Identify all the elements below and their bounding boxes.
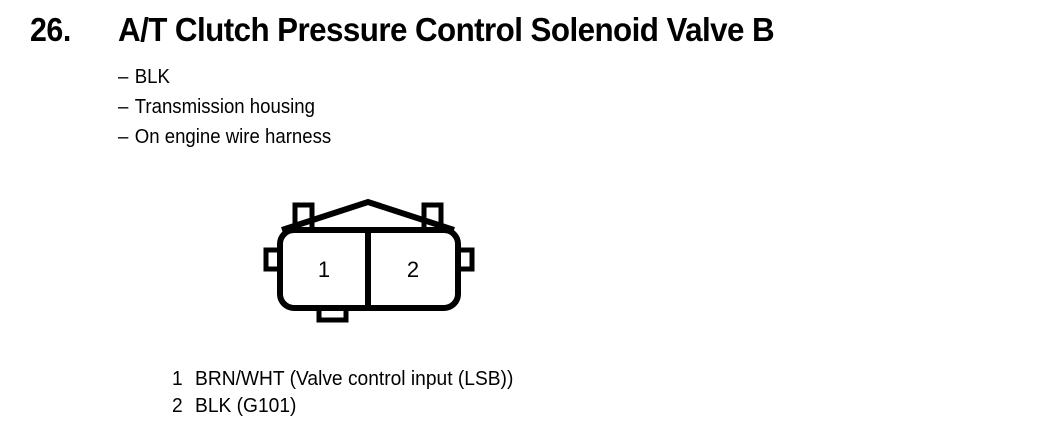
pin-legend: 1BRN/WHT (Valve control input (LSB)) 2BL…	[172, 366, 772, 420]
cavity-number-1: 1	[318, 257, 330, 282]
list-item: –BLK	[118, 62, 602, 92]
connector-drawing: 1 2	[250, 185, 500, 335]
list-item: –Transmission housing	[118, 92, 602, 122]
connector-diagram: 1 2	[250, 185, 500, 335]
attribute-list: –BLK –Transmission housing –On engine wi…	[118, 62, 638, 152]
attribute-label: Transmission housing	[135, 96, 315, 118]
page-title: A/T Clutch Pressure Control Solenoid Val…	[118, 10, 774, 50]
cavity-number-2: 2	[407, 257, 419, 282]
attribute-label: BLK	[135, 66, 170, 88]
pin-description: BRN/WHT (Valve control input (LSB))	[195, 368, 513, 390]
pin-legend-row: 1BRN/WHT (Valve control input (LSB))	[172, 366, 748, 393]
entry-header: 26. A/T Clutch Pressure Control Solenoid…	[0, 10, 1056, 56]
dash-icon: –	[118, 62, 135, 92]
pin-description: BLK (G101)	[195, 395, 296, 417]
dash-icon: –	[118, 92, 135, 122]
dash-icon: –	[118, 122, 135, 152]
pin-number: 1	[172, 366, 195, 393]
pin-legend-row: 2BLK (G101)	[172, 393, 748, 420]
pin-number: 2	[172, 393, 195, 420]
list-item: –On engine wire harness	[118, 122, 602, 152]
attribute-label: On engine wire harness	[135, 126, 331, 148]
entry-number: 26.	[30, 10, 71, 50]
